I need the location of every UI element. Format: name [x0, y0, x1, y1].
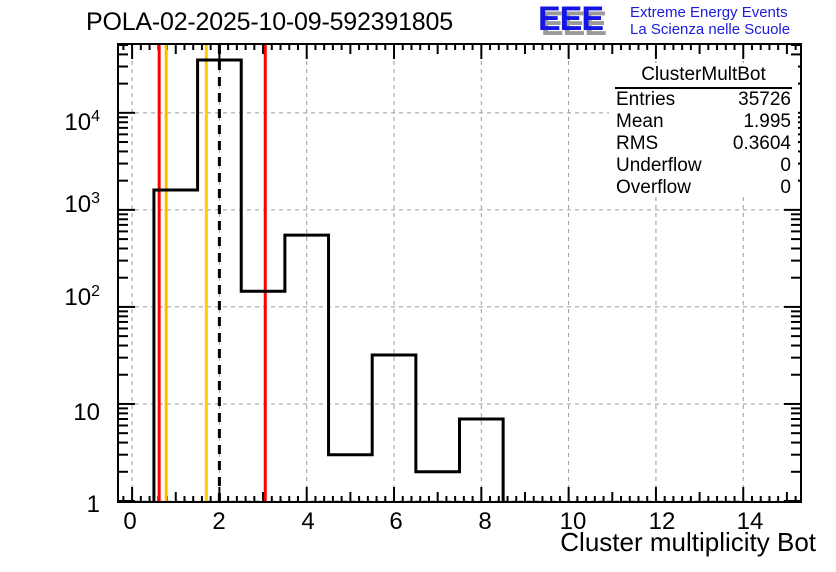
x-ticklabel-6: 6	[371, 508, 421, 536]
x-ticklabel-4: 4	[283, 508, 333, 536]
stats-key-mean: Mean	[616, 111, 664, 133]
stats-row-entries: Entries 35726	[609, 89, 798, 111]
stats-key-underflow: Underflow	[616, 155, 702, 177]
x-ticklabel-2: 2	[194, 508, 244, 536]
logo-mark-text: EEE	[538, 2, 603, 36]
root-canvas: POLA-02-2025-10-09-592391805 EEE EEE Ext…	[0, 0, 836, 572]
x-ticklabel-8: 8	[460, 508, 510, 536]
stats-row-overflow: Overflow 0	[609, 177, 798, 199]
x-axis-title: Cluster multiplicity Bot	[560, 527, 816, 558]
stats-value-entries: 35726	[738, 89, 791, 111]
y-ticklabel-1e3: 103	[40, 190, 100, 219]
stats-value-overflow: 0	[780, 177, 791, 199]
y-ticklabel-1e4: 104	[40, 108, 100, 137]
y-ticklabel-1e2: 102	[40, 283, 100, 312]
stats-key-entries: Entries	[616, 89, 675, 111]
y-ticklabel-1: 1	[62, 491, 100, 519]
y-ticklabel-10: 10	[50, 399, 100, 427]
logo-line-1: Extreme Energy Events	[630, 4, 788, 21]
page-title: POLA-02-2025-10-09-592391805	[86, 8, 453, 37]
stats-key-overflow: Overflow	[616, 177, 691, 199]
stats-row-rms: RMS 0.3604	[609, 133, 798, 155]
marker-lines	[159, 45, 265, 501]
stats-box[interactable]: ClusterMultBot Entries 35726 Mean 1.995 …	[609, 63, 798, 197]
stats-value-underflow: 0	[780, 155, 791, 177]
stats-value-mean: 1.995	[743, 111, 791, 133]
stats-value-rms: 0.3604	[733, 133, 791, 155]
stats-row-mean: Mean 1.995	[609, 111, 798, 133]
logo-line-2: La Scienza nelle Scuole	[630, 21, 790, 38]
stats-key-rms: RMS	[616, 133, 658, 155]
eee-logo: EEE EEE Extreme Energy Events La Scienza…	[538, 2, 834, 40]
stats-row-underflow: Underflow 0	[609, 155, 798, 177]
stats-title: ClusterMultBot	[615, 63, 792, 89]
x-ticklabel-0: 0	[105, 508, 155, 536]
